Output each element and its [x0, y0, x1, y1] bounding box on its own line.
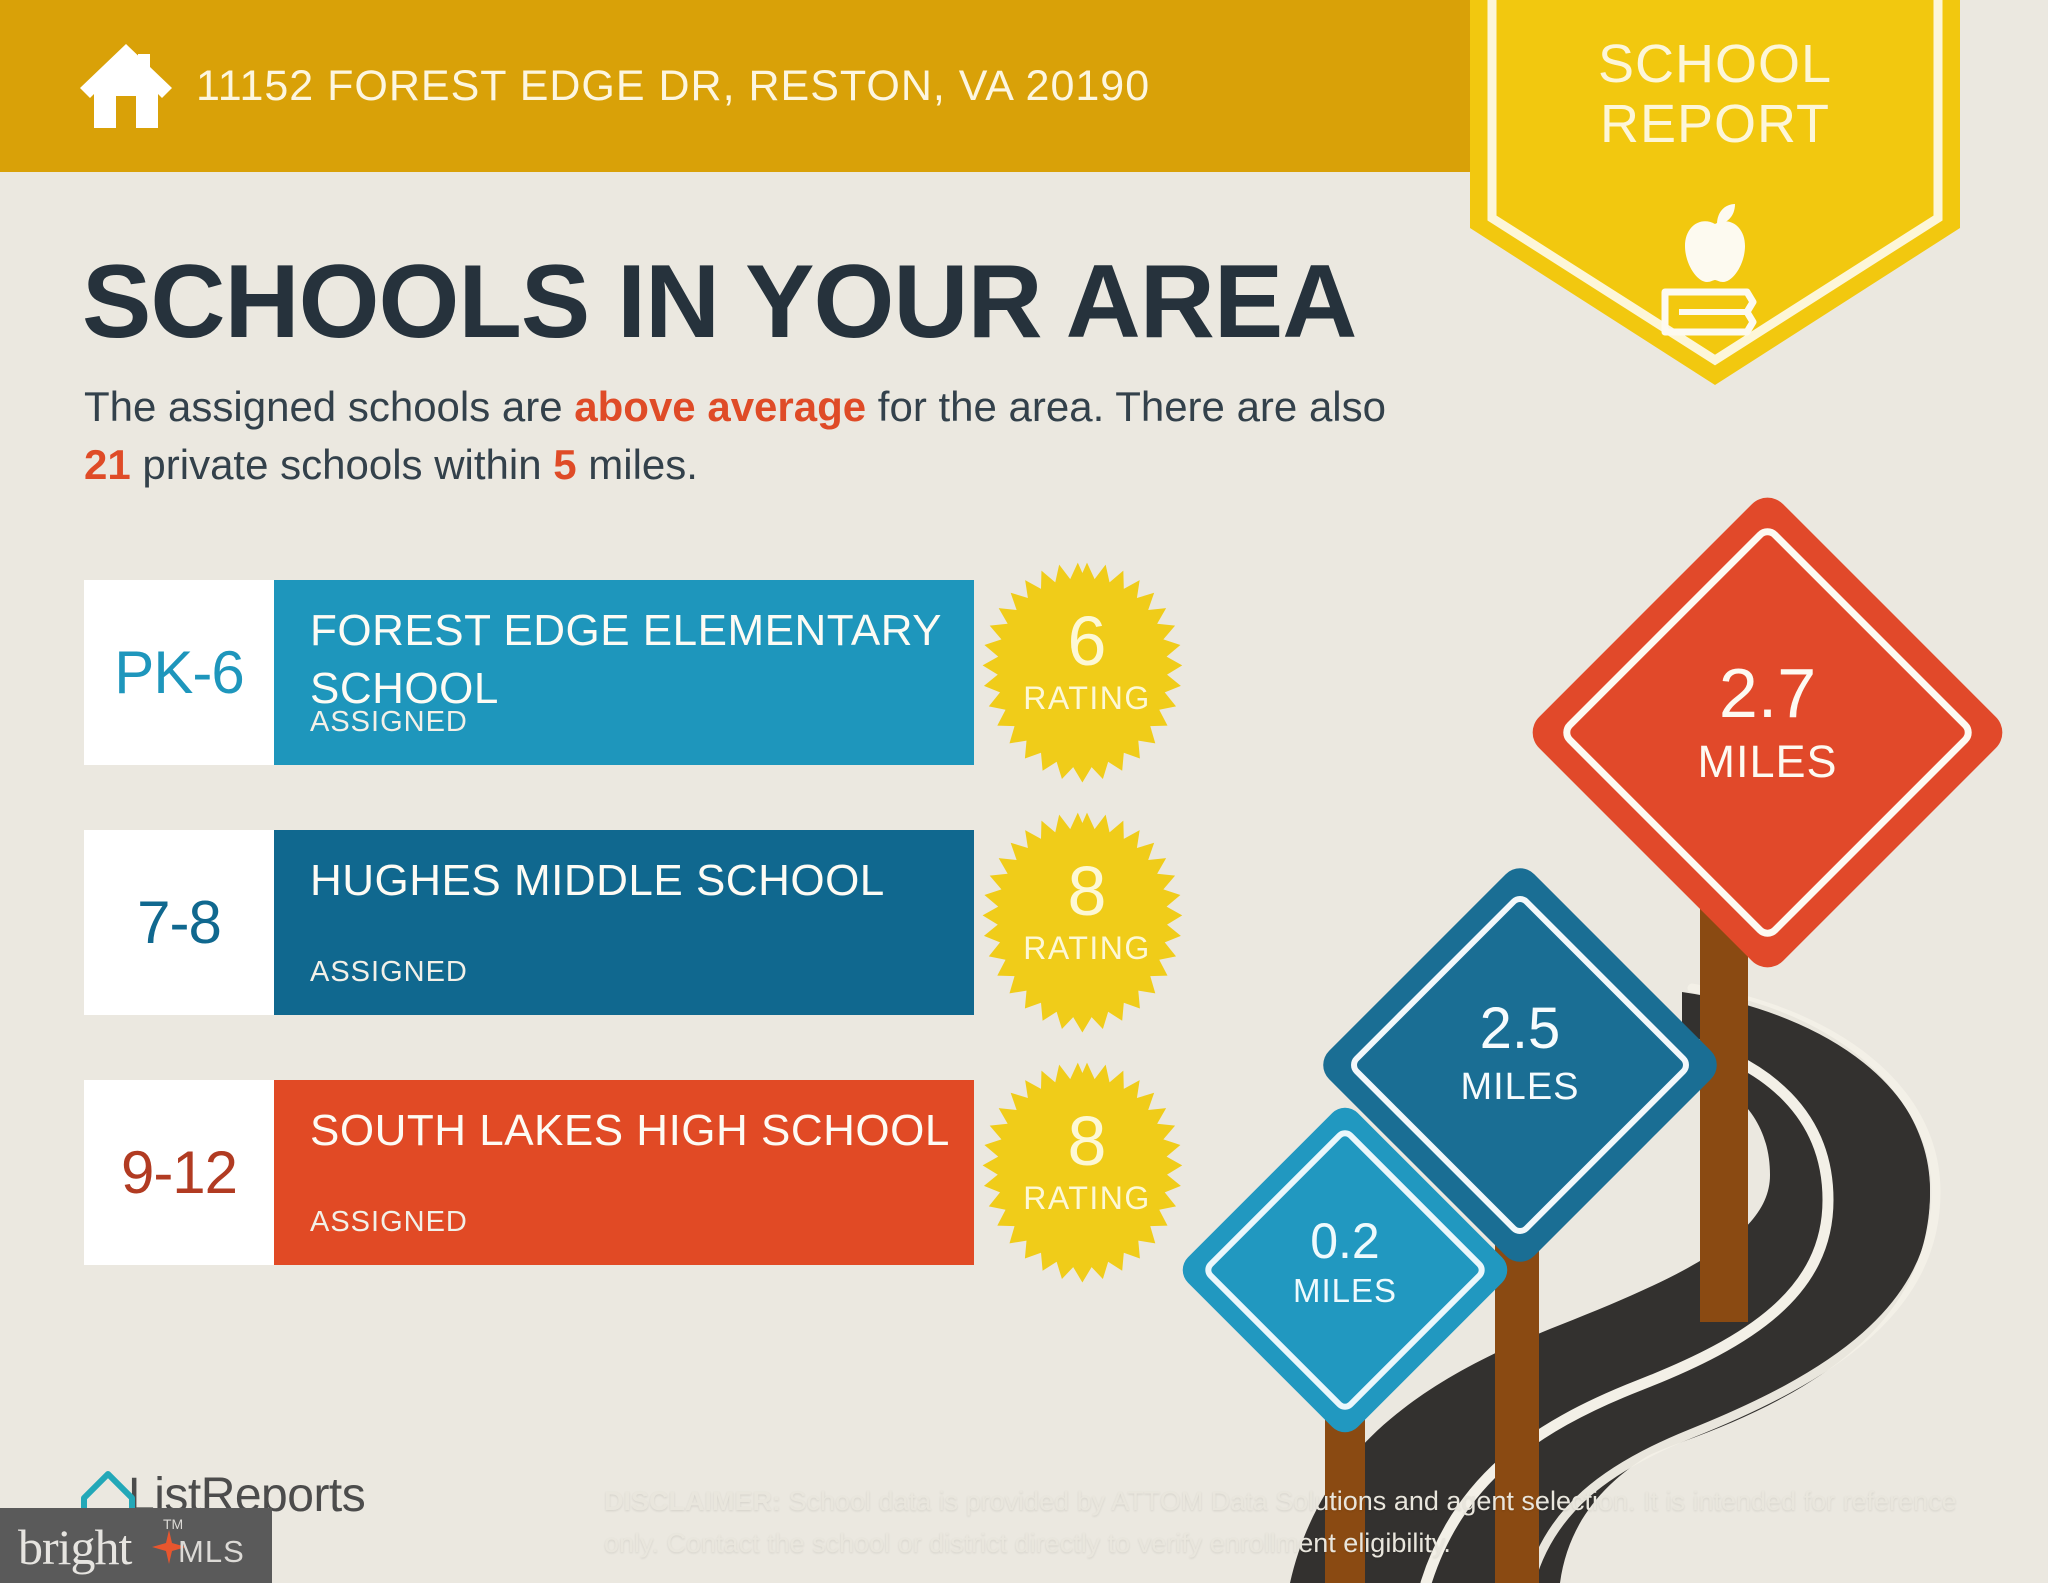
badge-title-line1: SCHOOL — [1470, 34, 1960, 94]
rating-label: RATING — [972, 930, 1202, 967]
school-status: ASSIGNED — [310, 956, 468, 989]
infographic-canvas: 2.7 MILES 2.5 MILES 0.2 MILES 11152 FORE… — [0, 0, 2048, 1583]
rating-value: 8 — [972, 856, 1202, 926]
header-bar: 11152 FOREST EDGE DR, RESTON, VA 20190 — [0, 0, 1545, 172]
school-status: ASSIGNED — [310, 706, 468, 739]
sign-value: 0.2 — [1225, 1214, 1465, 1268]
sign-unit: MILES — [1595, 736, 1940, 788]
apple-on-book-icon — [1655, 198, 1775, 338]
school-bar: FOREST EDGE ELEMENTARY SCHOOL ASSIGNED — [274, 580, 974, 765]
distance-sign-0.2: 0.2 MILES — [1225, 1150, 1465, 1390]
bright-mls-brand: bright — [18, 1518, 131, 1576]
school-grade-range: 7-8 — [84, 830, 274, 1015]
sign-value: 2.5 — [1375, 998, 1665, 1060]
school-grade-range: 9-12 — [84, 1080, 274, 1265]
bright-mls-logo: bright TM MLS — [0, 1508, 272, 1583]
school-name: SOUTH LAKES HIGH SCHOOL — [310, 1102, 950, 1160]
badge-title-line2: REPORT — [1470, 94, 1960, 154]
trademark-symbol: TM — [163, 1516, 183, 1532]
road-illustration: 2.7 MILES 2.5 MILES 0.2 MILES — [1230, 620, 2048, 1583]
school-row[interactable]: 9-12 SOUTH LAKES HIGH SCHOOL ASSIGNED 8 … — [84, 1080, 1144, 1265]
school-rating-badge: 8 RATING — [972, 1058, 1202, 1288]
bright-mls-suffix: MLS — [178, 1534, 245, 1570]
distance-sign-2.7: 2.7 MILES — [1595, 560, 1940, 905]
school-name: FOREST EDGE ELEMENTARY SCHOOL — [310, 602, 950, 718]
school-row[interactable]: PK-6 FOREST EDGE ELEMENTARY SCHOOL ASSIG… — [84, 580, 1144, 765]
rating-label: RATING — [972, 680, 1202, 717]
rating-value: 6 — [972, 606, 1202, 676]
school-row[interactable]: 7-8 HUGHES MIDDLE SCHOOL ASSIGNED 8 RATI… — [84, 830, 1144, 1015]
school-status: ASSIGNED — [310, 1206, 468, 1239]
school-report-badge: SCHOOL REPORT — [1470, 0, 1960, 385]
sign-unit: MILES — [1225, 1272, 1465, 1310]
sign-value: 2.7 — [1595, 656, 1940, 730]
rating-label: RATING — [972, 1180, 1202, 1217]
rating-value: 8 — [972, 1106, 1202, 1176]
school-grade-range: PK-6 — [84, 580, 274, 765]
school-bar: HUGHES MIDDLE SCHOOL ASSIGNED — [274, 830, 974, 1015]
school-rating-badge: 6 RATING — [972, 558, 1202, 788]
disclaimer: DISCLAIMER: School data is provided by A… — [604, 1480, 1984, 1564]
home-icon — [78, 40, 174, 132]
school-name: HUGHES MIDDLE SCHOOL — [310, 852, 950, 910]
disclaimer-text: School data is provided by ATTOM Data So… — [604, 1486, 1957, 1558]
property-address: 11152 FOREST EDGE DR, RESTON, VA 20190 — [196, 54, 1150, 118]
school-rating-badge: 8 RATING — [972, 808, 1202, 1038]
disclaimer-label: DISCLAIMER: — [604, 1486, 781, 1516]
sign-unit: MILES — [1375, 1066, 1665, 1109]
badge-title: SCHOOL REPORT — [1470, 34, 1960, 154]
school-bar: SOUTH LAKES HIGH SCHOOL ASSIGNED — [274, 1080, 974, 1265]
